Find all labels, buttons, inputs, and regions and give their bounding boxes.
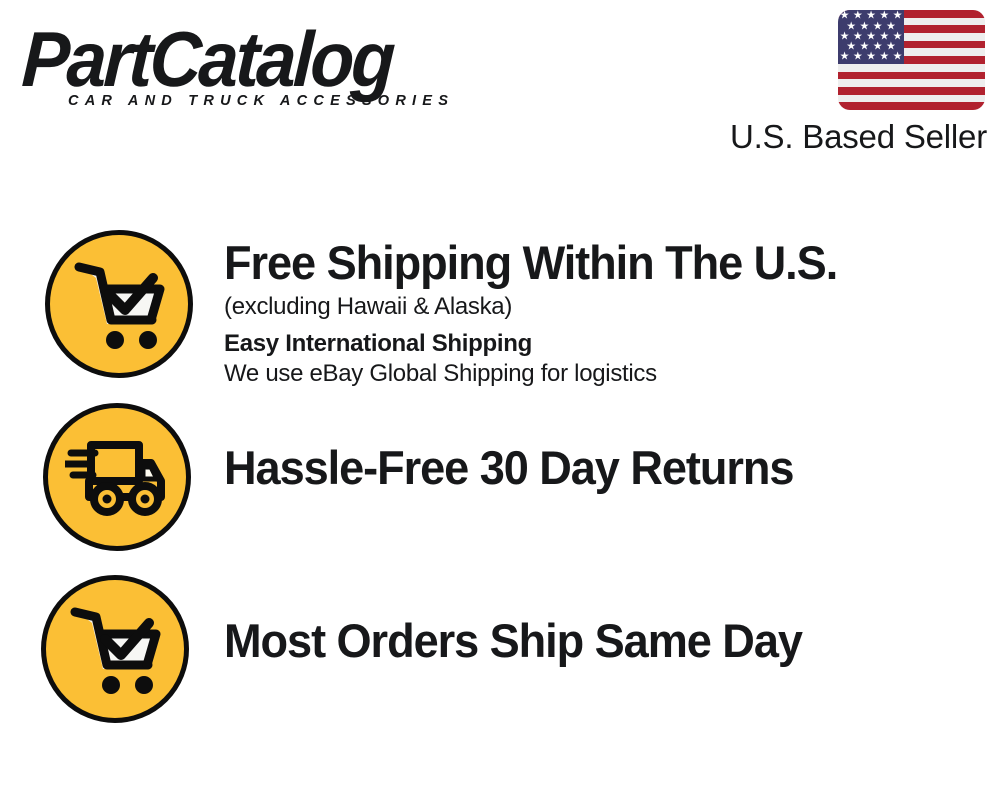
page-header: PartCatalog CAR AND TRUCK ACCESSORIES ★★… [0, 0, 1000, 175]
flag-star: ★ [879, 52, 889, 63]
flag-stripe [838, 102, 985, 110]
shopping-cart-check-icon [45, 230, 193, 378]
feature-item-same-day-ship: Most Orders Ship Same Day [0, 575, 1000, 745]
flag-star: ★ [840, 52, 850, 63]
shopping-cart-check-icon [41, 575, 189, 723]
flag-stripe [838, 87, 985, 95]
brand-wordmark: PartCatalog [20, 20, 394, 98]
flag-stripe [838, 79, 985, 87]
feature-item-returns: Hassle-Free 30 Day Returns [0, 403, 1000, 568]
flag-stripe [838, 64, 985, 72]
feature-subline-exclusions: (excluding Hawaii & Alaska) [224, 293, 984, 321]
flag-star: ★ [866, 52, 876, 63]
us-based-seller-label: U.S. Based Seller [721, 118, 987, 156]
feature-subline-international: Easy International Shipping [224, 330, 984, 358]
flag-stripe [838, 95, 985, 103]
delivery-truck-icon [43, 403, 191, 551]
feature-headline: Free Shipping Within The U.S. [224, 238, 954, 288]
flag-star: ★ [853, 52, 863, 63]
feature-item-free-shipping: Free Shipping Within The U.S. (excluding… [0, 230, 1000, 410]
flag-canton: ★★★★★★★★★★★★★★★★★★★★★★★ [838, 10, 904, 64]
feature-text-block: Hassle-Free 30 Day Returns [224, 443, 984, 493]
feature-headline: Most Orders Ship Same Day [224, 616, 954, 666]
feature-text-block: Most Orders Ship Same Day [224, 616, 984, 666]
feature-list: Free Shipping Within The U.S. (excluding… [0, 175, 1000, 800]
feature-headline: Hassle-Free 30 Day Returns [224, 443, 954, 493]
brand-logo[interactable]: PartCatalog CAR AND TRUCK ACCESSORIES [24, 24, 494, 116]
flag-stripe [838, 72, 985, 80]
flag-star: ★ [893, 52, 903, 63]
feature-text-block: Free Shipping Within The U.S. (excluding… [224, 238, 984, 389]
feature-subline-logistics: We use eBay Global Shipping for logistic… [224, 360, 984, 388]
brand-tagline: CAR AND TRUCK ACCESSORIES [68, 92, 454, 109]
us-flag-icon: ★★★★★★★★★★★★★★★★★★★★★★★ [838, 10, 985, 110]
